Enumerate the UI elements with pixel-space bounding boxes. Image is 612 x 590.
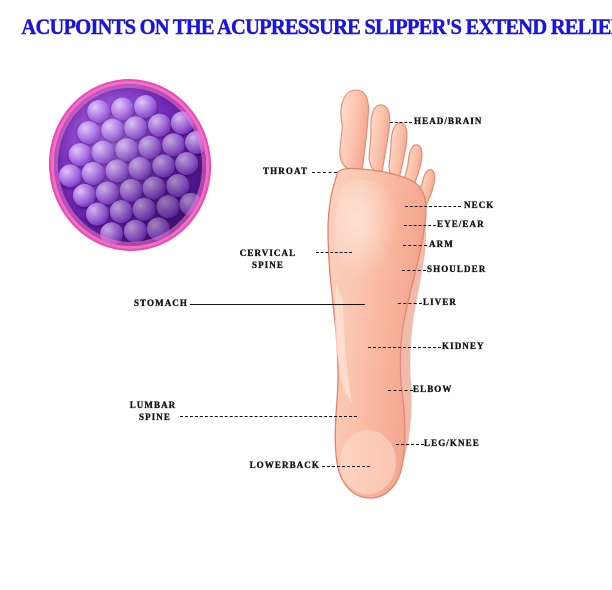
leader-arm	[403, 245, 427, 246]
leader-lowerback	[322, 466, 370, 467]
leader-lumbar-spine	[180, 416, 357, 417]
label-eye-ear: EYE/EAR	[437, 219, 485, 230]
leader-kidney	[368, 347, 441, 348]
leader-cervical-spine	[316, 252, 352, 253]
leader-neck	[405, 206, 461, 207]
leader-stomach	[190, 304, 365, 305]
label-kidney: KIDNEY	[442, 341, 485, 352]
label-head-brain: HEAD/BRAIN	[414, 116, 483, 127]
label-lumbar-spine-line2: SPINE	[130, 411, 180, 423]
page-title: ACUPOINTS ON THE ACUPRESSURE SLIPPER'S E…	[21, 14, 590, 40]
label-throat: THROAT	[250, 166, 308, 177]
leader-liver	[398, 303, 422, 304]
slipper-nub	[146, 216, 171, 241]
leader-shoulder	[402, 270, 426, 271]
label-cervical-spine-line2: SPINE	[226, 259, 310, 271]
reflexology-chart-canvas: ACUPOINTS ON THE ACUPRESSURE SLIPPER'S E…	[0, 0, 612, 590]
label-liver: LIVER	[423, 297, 457, 308]
label-arm: ARM	[429, 239, 454, 250]
label-cervical-spine-line1: CERVICAL	[226, 247, 310, 259]
slipper-nub-grid	[46, 76, 214, 253]
slipper-nub	[174, 151, 199, 176]
slipper-nub	[99, 221, 124, 246]
leader-head-brain	[390, 122, 412, 123]
label-leg-knee: LEG/KNEE	[424, 438, 480, 449]
leader-eye-ear	[404, 225, 436, 226]
slipper-nub	[179, 192, 204, 217]
slipper-nub	[155, 194, 180, 219]
leader-elbow	[388, 390, 413, 391]
label-lumbar-spine-line1: LUMBAR	[122, 399, 184, 411]
label-shoulder: SHOULDER	[427, 264, 486, 275]
leader-leg-knee	[396, 444, 424, 445]
slipper-nub	[184, 129, 209, 154]
foot-heel-pad	[340, 430, 396, 494]
label-lowerback: LOWERBACK	[224, 460, 320, 471]
label-stomach: STOMACH	[118, 298, 188, 309]
foot-sole-illustration	[312, 84, 440, 504]
leader-throat	[312, 172, 337, 173]
label-neck: NECK	[464, 200, 494, 211]
acupressure-slipper-insole	[46, 76, 214, 253]
label-elbow: ELBOW	[413, 384, 453, 395]
